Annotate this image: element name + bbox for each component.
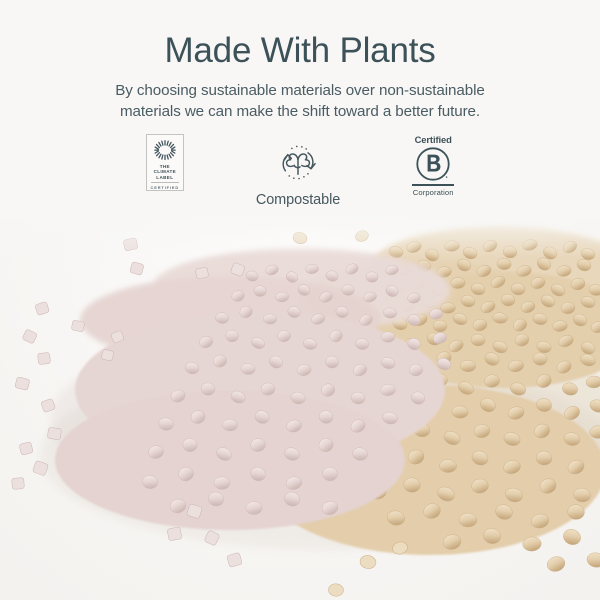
badge-climate-label: THE CLIMATE LABEL CERTIFIED — [146, 134, 184, 191]
certification-badges: THE CLIMATE LABEL CERTIFIED — [0, 134, 600, 210]
climate-label-line-3: LABEL — [154, 175, 177, 180]
climate-label-certified-text: CERTIFIED — [151, 185, 180, 190]
b-corp-circled-b-icon — [415, 146, 451, 182]
badge-bcorp: Certified Corporation — [412, 134, 454, 197]
product-feature-card: Made With Plants By choosing sustainable… — [0, 0, 600, 600]
compostable-label: Compostable — [256, 192, 340, 208]
subtitle-line-1: By choosing sustainable materials over n… — [0, 80, 600, 101]
compostable-clover-arrows-icon — [270, 139, 326, 186]
page-subtitle: By choosing sustainable materials over n… — [0, 71, 600, 122]
bcorp-divider — [412, 184, 454, 186]
header: Made With Plants By choosing sustainable… — [0, 0, 600, 122]
climate-label-divider — [151, 182, 179, 183]
bcorp-certified-text: Certified — [415, 134, 452, 145]
climate-label-box: THE CLIMATE LABEL CERTIFIED — [146, 134, 184, 191]
badge-compostable: Compostable — [256, 134, 340, 208]
page-title: Made With Plants — [0, 0, 600, 71]
sunburst-icon — [152, 138, 178, 162]
climate-label-wordmark: THE CLIMATE LABEL — [154, 164, 177, 180]
subtitle-line-2: materials we can make the shift toward a… — [0, 101, 600, 122]
climate-label-line-2: CLIMATE — [154, 169, 177, 174]
bcorp-corporation-text: Corporation — [413, 188, 454, 197]
compostable-icon-wrap — [270, 134, 326, 191]
